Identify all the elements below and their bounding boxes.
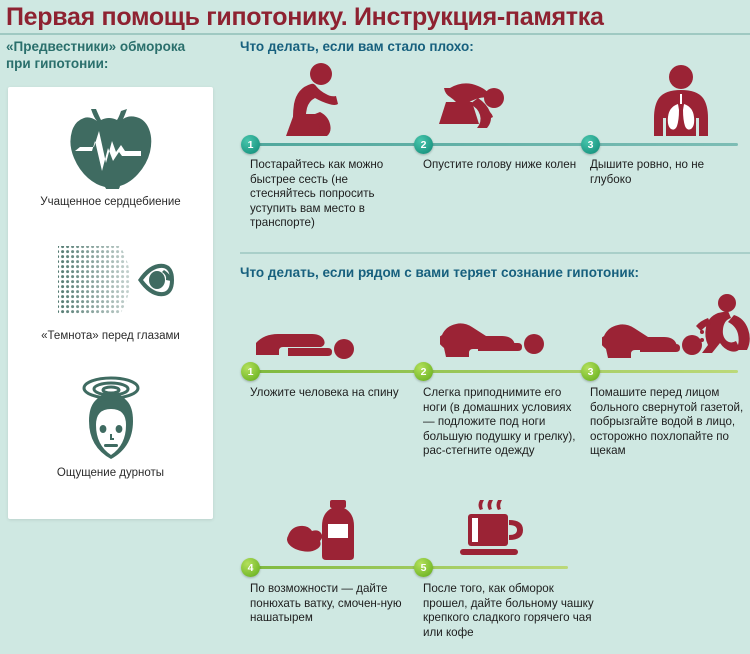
step-text-1: Постарайтесь как можно быстрее сесть (не…: [250, 158, 410, 231]
track-line: [248, 566, 568, 569]
section-other-illustrations-row2: [240, 500, 750, 562]
step-badge-1[interactable]: 1: [241, 135, 260, 154]
title-divider: [0, 33, 750, 35]
step-badge-2[interactable]: 2: [414, 135, 433, 154]
symptoms-card: Учащенное сердцебиение: [8, 87, 213, 519]
step-badge-5[interactable]: 5: [414, 558, 433, 577]
person-head-down-icon: [438, 76, 516, 138]
person-lying-icon: [252, 327, 360, 359]
symptom-label: «Темнота» перед глазами: [8, 329, 213, 343]
step-track-other-row1: 1 2 3: [240, 370, 750, 373]
step-badge-4[interactable]: 4: [241, 558, 260, 577]
step-badge-3[interactable]: 3: [581, 362, 600, 381]
step-badge-2[interactable]: 2: [414, 362, 433, 381]
step-text-5: После того, как обморок прошел, дайте бо…: [423, 582, 598, 640]
person-fanning-icon: [602, 294, 750, 360]
infographic-page: Первая помощь гипотонику. Инструкция-пам…: [0, 0, 750, 654]
section-divider: [240, 252, 750, 254]
torso-lungs-icon: [645, 64, 717, 136]
ammonia-bottle-cotton-icon: [280, 500, 372, 560]
sidebar-heading-line2: при гипотонии:: [6, 55, 222, 72]
section-other-captions-row2: По возможности — дайте понюхать ватку, с…: [240, 582, 750, 652]
section-help-other: Что делать, если рядом с вами теряет соз…: [240, 264, 750, 282]
step-text-2: Опустите голову ниже колен: [423, 158, 578, 173]
step-track-self: 1 2 3: [240, 143, 750, 146]
symptom-item: Учащенное сердцебиение: [8, 101, 213, 209]
eye-darkness-icon: [8, 235, 213, 325]
step-text-3: Дышите ровно, но не глубоко: [590, 158, 740, 187]
dizzy-head-icon: [8, 372, 213, 462]
section-other-illustrations-row1: [240, 292, 750, 368]
symptom-label: Ощущение дурноты: [8, 466, 213, 480]
person-sitting-icon: [265, 62, 351, 136]
sidebar-heading: «Предвестники» обморока при гипотонии:: [0, 38, 222, 72]
step-text-1: Уложите человека на спину: [250, 386, 410, 401]
track-line: [248, 143, 738, 146]
page-title: Первая помощь гипотонику. Инструкция-пам…: [0, 0, 604, 34]
symptom-label: Учащенное сердцебиение: [8, 195, 213, 209]
step-text-4: По возможности — дайте понюхать ватку, с…: [250, 582, 412, 626]
person-legs-raised-icon: [440, 319, 550, 359]
step-text-2: Слегка приподнимите его ноги (в домашних…: [423, 386, 581, 459]
heart-pulse-icon: [8, 101, 213, 191]
section-self-captions: Постарайтесь как можно быстрее сесть (не…: [240, 158, 750, 248]
track-line: [248, 370, 738, 373]
symptom-item: Ощущение дурноты: [8, 372, 213, 480]
sidebar-heading-line1: «Предвестники» обморока: [6, 38, 222, 55]
section-self-help: Что делать, если вам стало плохо:: [240, 38, 750, 56]
step-text-3: Помашите перед лицом больного свернутой …: [590, 386, 750, 459]
step-badge-3[interactable]: 3: [581, 135, 600, 154]
hot-cup-icon: [452, 500, 532, 560]
step-badge-1[interactable]: 1: [241, 362, 260, 381]
sidebar: «Предвестники» обморока при гипотонии:: [0, 38, 222, 72]
section-self-illustrations: [240, 62, 750, 138]
section-self-heading: Что делать, если вам стало плохо:: [240, 38, 750, 56]
section-other-heading: Что делать, если рядом с вами теряет соз…: [240, 264, 750, 282]
symptom-item: «Темнота» перед глазами: [8, 235, 213, 343]
step-track-other-row2: 4 5: [240, 566, 750, 569]
page-title-bar: Первая помощь гипотонику. Инструкция-пам…: [0, 0, 750, 34]
section-other-captions-row1: Уложите человека на спину Слегка приподн…: [240, 386, 750, 486]
